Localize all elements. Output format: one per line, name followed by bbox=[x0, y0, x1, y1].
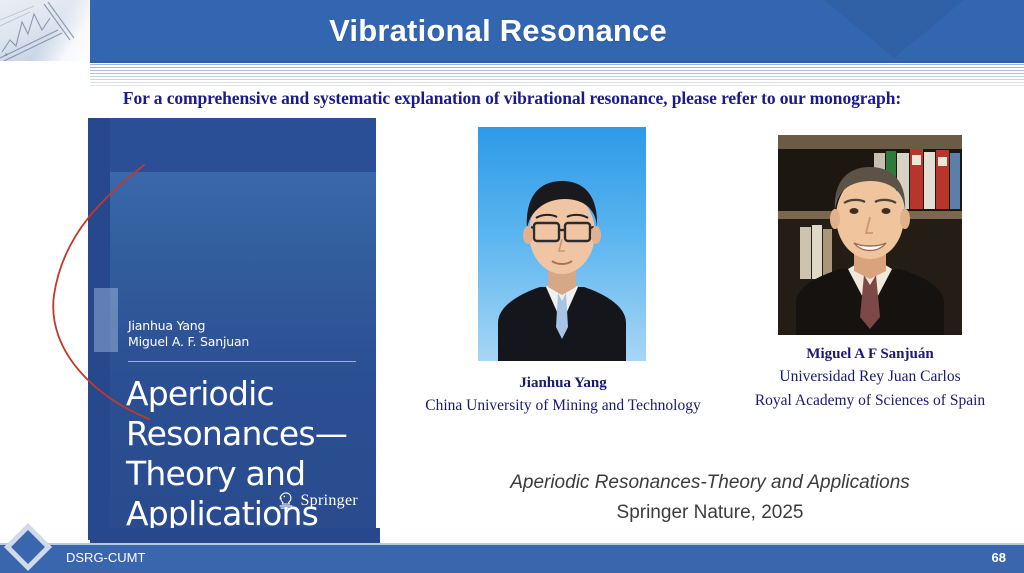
portrait-photo-jianhua-yang bbox=[478, 127, 646, 361]
person-affiliation: Royal Academy of Sciences of Spain bbox=[740, 389, 1000, 413]
footer-label: DSRG-CUMT bbox=[66, 543, 145, 571]
book-accent-block bbox=[94, 288, 118, 352]
footer-bar bbox=[0, 543, 1024, 573]
person-name: Jianhua Yang bbox=[380, 372, 746, 394]
chart-sketch-icon: .x bbox=[0, 0, 90, 61]
footer-page-number: 68 bbox=[992, 543, 1006, 571]
springer-wordmark: Springer bbox=[300, 492, 358, 510]
caption-miguel-sanjuan: Miguel A F Sanjuán Universidad Rey Juan … bbox=[740, 343, 1000, 413]
book-cover-image: Jianhua Yang Miguel A. F. Sanjuan Aperio… bbox=[88, 118, 376, 540]
slide-header: .x Vibrational Resonance bbox=[0, 0, 1024, 61]
citation-publisher: Springer Nature, 2025 bbox=[420, 498, 1000, 528]
springer-knight-icon bbox=[278, 491, 295, 510]
springer-logo: Springer bbox=[278, 491, 358, 510]
page-title: Vibrational Resonance bbox=[88, 0, 908, 61]
subtitle-text: For a comprehensive and systematic expla… bbox=[0, 88, 1024, 109]
header-stripe-topline bbox=[90, 61, 1024, 63]
citation-title: Aperiodic Resonances-Theory and Applicat… bbox=[420, 468, 1000, 498]
book-divider-rule bbox=[128, 361, 356, 362]
book-citation: Aperiodic Resonances-Theory and Applicat… bbox=[420, 468, 1000, 528]
book-authors: Jianhua Yang Miguel A. F. Sanjuan bbox=[128, 318, 358, 349]
book-author-1: Jianhua Yang bbox=[128, 318, 358, 334]
portrait-illustration-yang bbox=[478, 127, 646, 361]
header-decorative-chart-photo: .x bbox=[0, 0, 90, 61]
header-stripe-fade bbox=[90, 61, 1024, 87]
caption-jianhua-yang: Jianhua Yang China University of Mining … bbox=[380, 372, 746, 418]
person-affiliation: Universidad Rey Juan Carlos bbox=[740, 365, 1000, 389]
footer-dark-block bbox=[90, 528, 380, 544]
person-affiliation: China University of Mining and Technolog… bbox=[380, 394, 746, 418]
svg-text:.x: .x bbox=[3, 52, 8, 58]
person-name: Miguel A F Sanjuán bbox=[740, 343, 1000, 365]
portrait-illustration-sanjuan bbox=[778, 135, 962, 335]
book-author-2: Miguel A. F. Sanjuan bbox=[128, 334, 358, 350]
book-title: Aperiodic Resonances—Theory and Applicat… bbox=[126, 374, 376, 534]
portrait-photo-miguel-sanjuan bbox=[778, 135, 962, 335]
